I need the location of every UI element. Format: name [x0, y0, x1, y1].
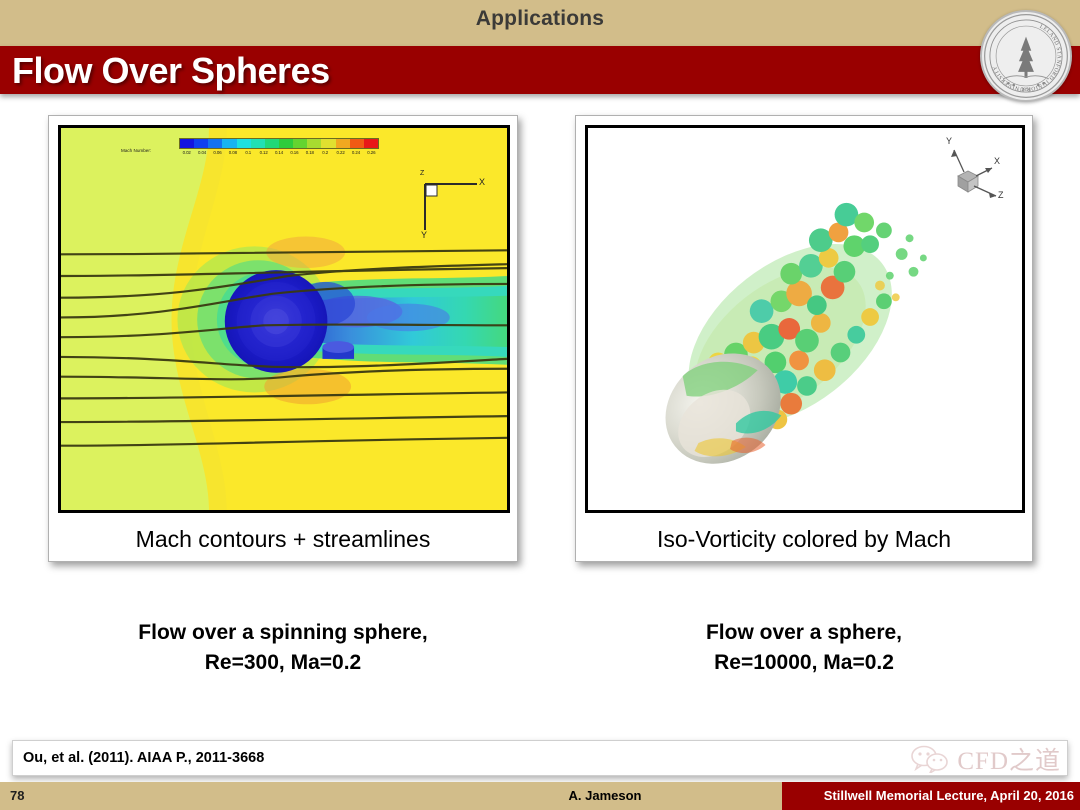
svg-text:1891: 1891 [1021, 87, 1032, 93]
citation-bar: Ou, et al. (2011). AIAA P., 2011-3668 CF… [12, 740, 1068, 776]
colorbar-tick: 0.18 [302, 150, 317, 155]
figure-label-left-line2: Re=300, Ma=0.2 [48, 648, 518, 678]
axis-label-x: X [994, 156, 1000, 166]
cfd-watermark: CFD之道 [909, 741, 1061, 777]
figure-label-right-line1: Flow over a sphere, [575, 618, 1033, 648]
stanford-seal-icon: LELAND STANFORD JUNIOR UNIVERSITY 1891 [980, 10, 1072, 102]
colorbar-tick: 0.06 [210, 150, 225, 155]
axis-label-y: Y [421, 230, 427, 240]
colorbar-tick: 0.16 [287, 150, 302, 155]
footer-author: A. Jameson [440, 788, 770, 803]
panel-left-caption: Mach contours + streamlines [49, 526, 517, 553]
page-title: Flow Over Spheres [12, 50, 330, 92]
mach-contours-figure: Mach Number: 0.02 0.04 0.06 0.08 0.1 0.1… [58, 125, 510, 513]
colorbar-tick: 0.08 [225, 150, 240, 155]
colorbar-tick: 0.24 [348, 150, 363, 155]
axis-label-z: Z [998, 190, 1004, 200]
figure-label-left-line1: Flow over a spinning sphere, [48, 618, 518, 648]
panel-right-caption: Iso-Vorticity colored by Mach [576, 526, 1032, 553]
colorbar-tick: 0.14 [271, 150, 286, 155]
axis-triad-3d: Y X Z [930, 138, 1010, 210]
axis-label-z: Z [420, 170, 424, 177]
wechat-icon [909, 745, 953, 773]
colorbar-tick: 0.12 [256, 150, 271, 155]
page-number: 78 [10, 788, 24, 803]
footer-lecture: Stillwell Memorial Lecture, April 20, 20… [782, 788, 1074, 803]
colorbar-tick: 0.1 [241, 150, 256, 155]
colorbar-tick: 0.04 [194, 150, 209, 155]
colorbar-tick: 0.22 [333, 150, 348, 155]
colorbar-tick: 0.26 [364, 150, 379, 155]
watermark-text: CFD之道 [957, 741, 1061, 777]
axis-label-x: X [479, 177, 485, 187]
figure-label-left: Flow over a spinning sphere, Re=300, Ma=… [48, 618, 518, 678]
colorbar-tick-labels: 0.02 0.04 0.06 0.08 0.1 0.12 0.14 0.16 0… [179, 150, 379, 155]
section-title: Applications [0, 7, 1080, 31]
mach-colorbar: Mach Number: 0.02 0.04 0.06 0.08 0.1 0.1… [179, 138, 379, 155]
figure-label-right-line2: Re=10000, Ma=0.2 [575, 648, 1033, 678]
colorbar-tick: 0.2 [318, 150, 333, 155]
panel-iso-vorticity: Y X Z Iso-Vorticity colored by Mach [575, 115, 1033, 562]
iso-vorticity-figure: Y X Z [585, 125, 1025, 513]
colorbar-swatches [179, 138, 379, 149]
axis-triad-2d: X Y Z [417, 170, 493, 242]
colorbar-tick: 0.02 [179, 150, 194, 155]
panel-mach-contours: Mach Number: 0.02 0.04 0.06 0.08 0.1 0.1… [48, 115, 518, 562]
figure-label-right: Flow over a sphere, Re=10000, Ma=0.2 [575, 618, 1033, 678]
axis-label-y: Y [946, 136, 952, 146]
colorbar-title: Mach Number: [121, 148, 151, 153]
citation-text: Ou, et al. (2011). AIAA P., 2011-3668 [23, 750, 264, 766]
